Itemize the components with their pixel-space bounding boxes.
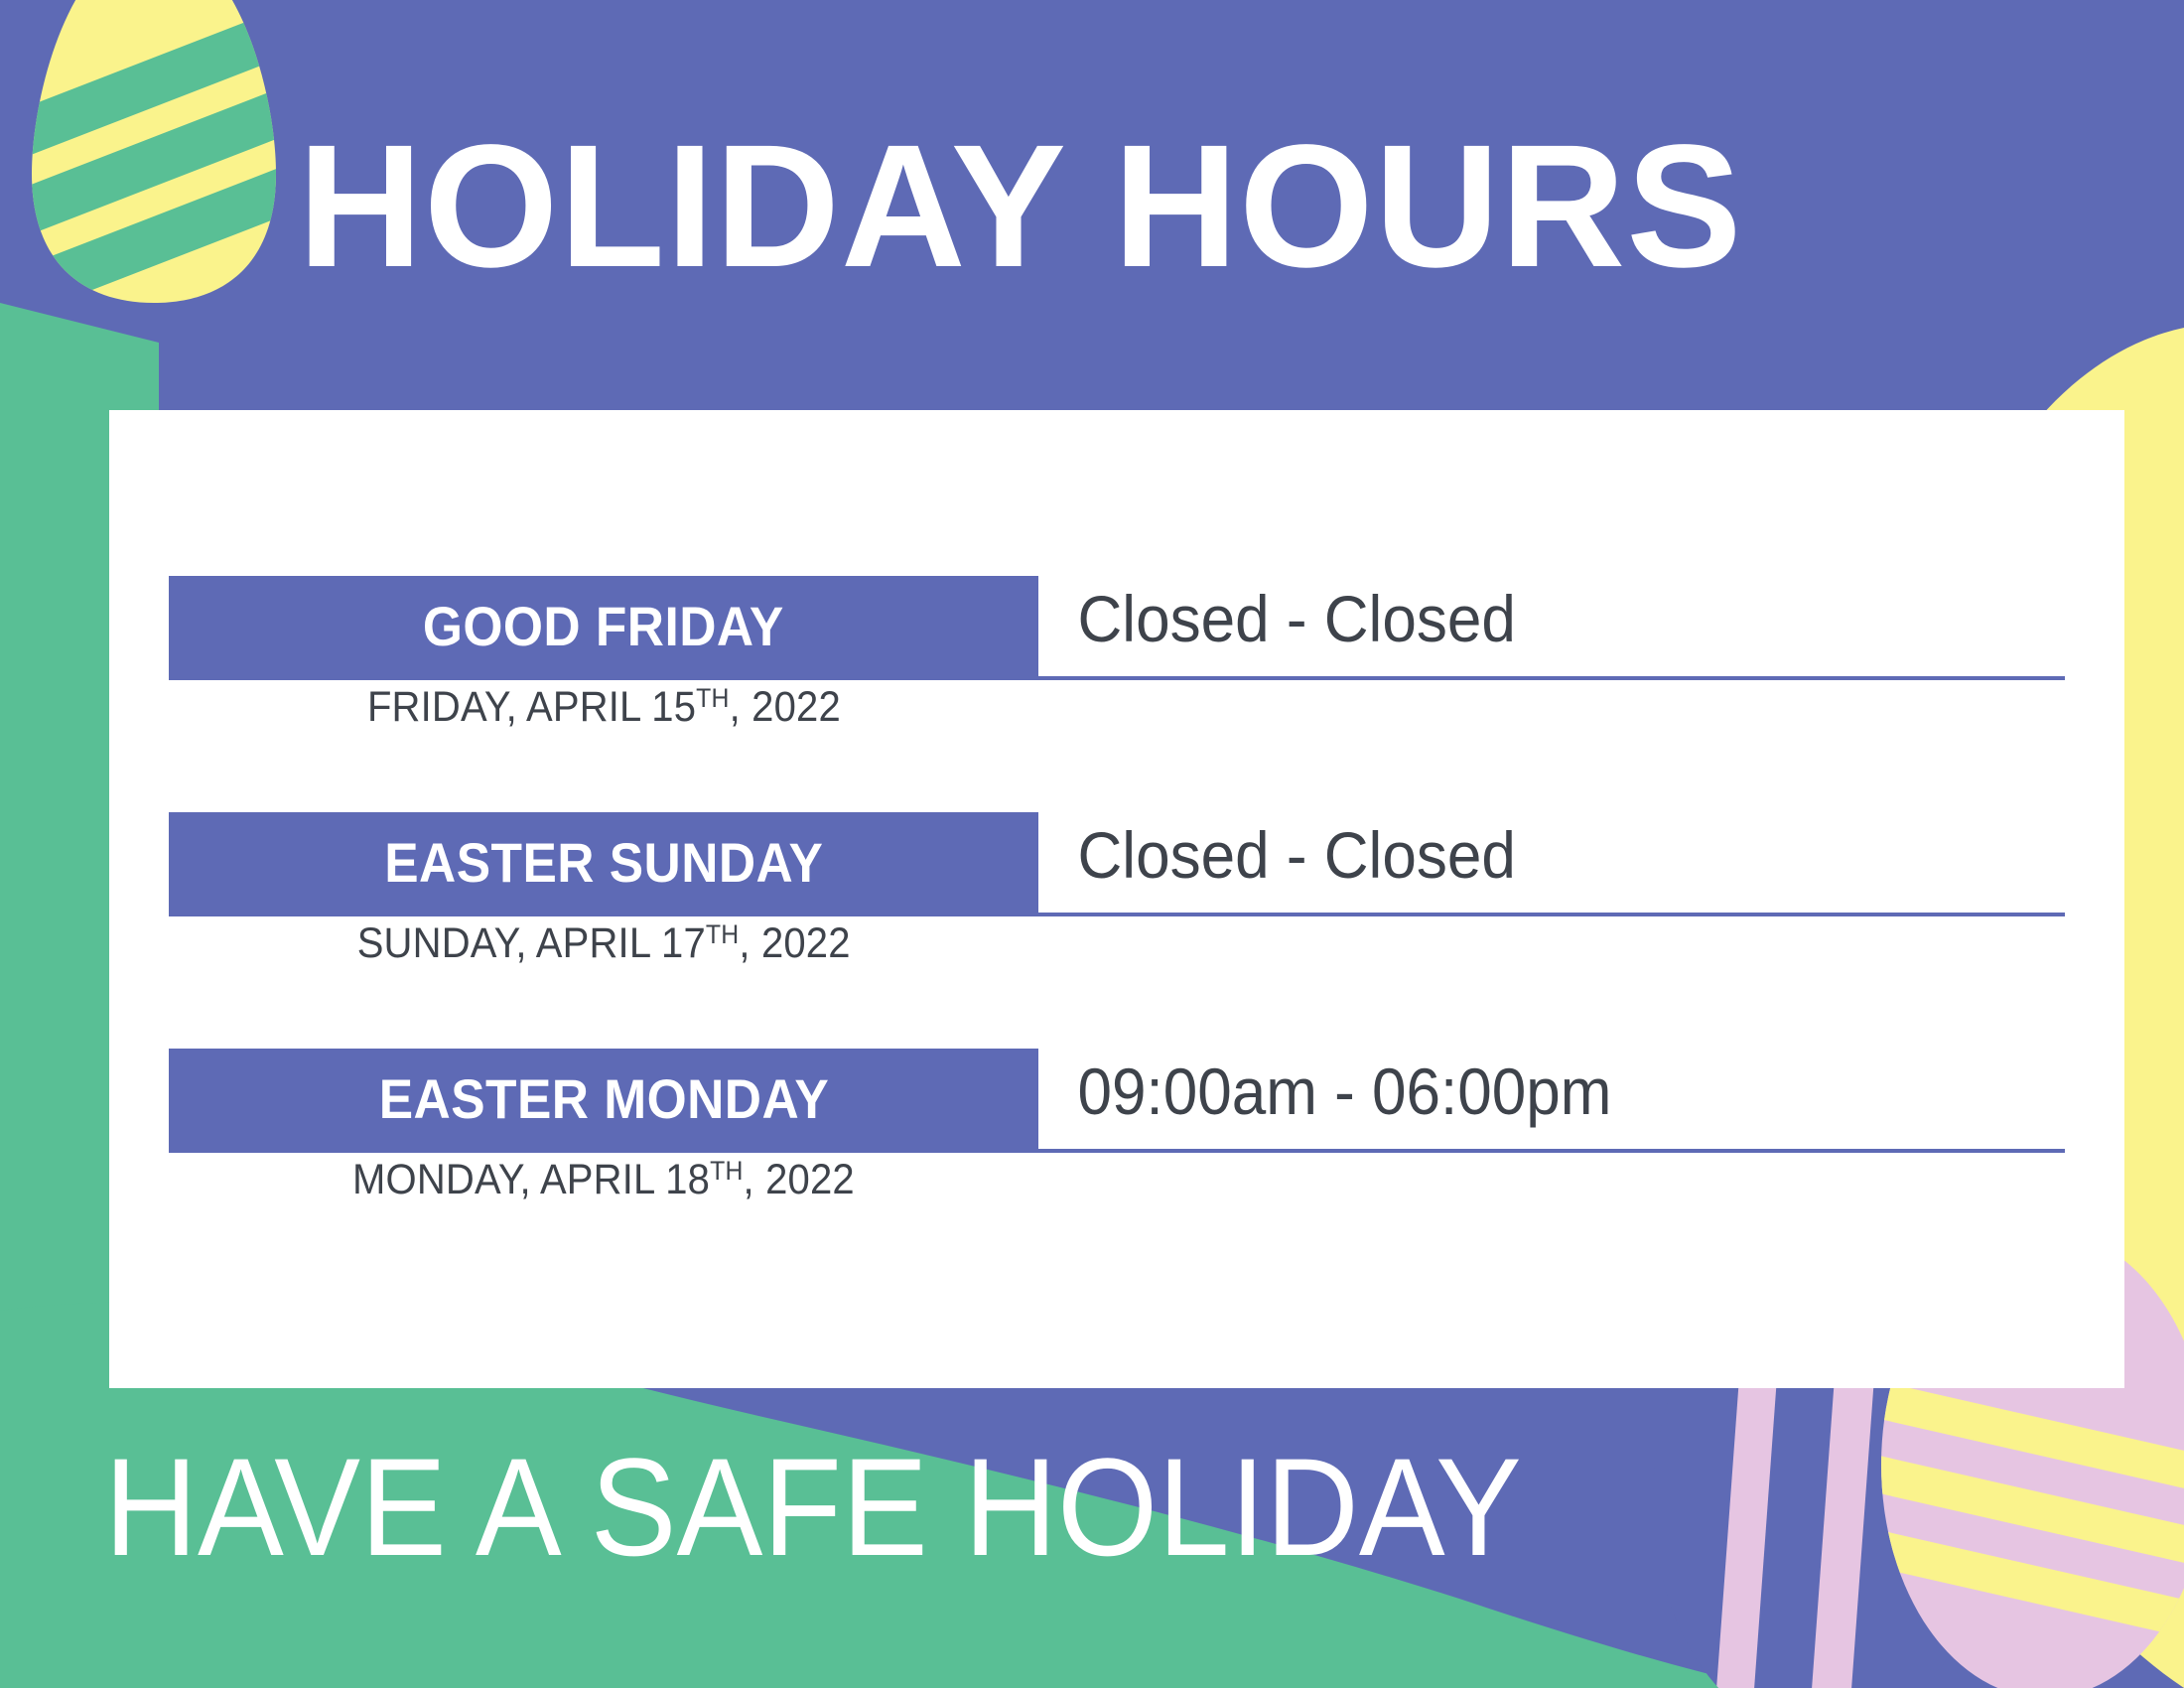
date-suffix: , 2022: [729, 683, 840, 731]
schedule-row: GOOD FRIDAY Closed - Closed FRIDAY, APRI…: [169, 576, 2065, 812]
page-title: HOLIDAY HOURS: [298, 119, 1969, 294]
schedule-row-top: EASTER SUNDAY Closed - Closed: [169, 812, 2065, 916]
schedule-row-top: EASTER MONDAY 09:00am - 06:00pm: [169, 1049, 2065, 1153]
holiday-name: EASTER MONDAY: [378, 1066, 829, 1131]
holiday-hours-cell: 09:00am - 06:00pm: [1038, 1049, 2065, 1153]
holiday-date-line: FRIDAY, APRIL 15TH, 2022: [169, 683, 1038, 732]
date-prefix: SUNDAY, APRIL 17: [357, 919, 706, 967]
holiday-hours: Closed - Closed: [1038, 817, 1516, 893]
holiday-hours-poster: HOLIDAY HOURS GOOD FRIDAY Closed - Close…: [0, 0, 2184, 1688]
holiday-date: FRIDAY, APRIL 15TH, 2022: [367, 683, 841, 732]
date-suffix: , 2022: [744, 1156, 855, 1203]
holiday-hours-cell: Closed - Closed: [1038, 812, 2065, 916]
holiday-hours-cell: Closed - Closed: [1038, 576, 2065, 680]
holiday-name-bar: EASTER MONDAY: [169, 1049, 1038, 1153]
holiday-date-line: SUNDAY, APRIL 17TH, 2022: [169, 919, 1038, 968]
date-prefix: MONDAY, APRIL 18: [352, 1156, 710, 1203]
schedule-row: EASTER SUNDAY Closed - Closed SUNDAY, AP…: [169, 812, 2065, 1049]
date-prefix: FRIDAY, APRIL 15: [367, 683, 696, 731]
footer-message: HAVE A SAFE HOLIDAY: [104, 1438, 1522, 1577]
holiday-name-bar: GOOD FRIDAY: [169, 576, 1038, 680]
holiday-date: MONDAY, APRIL 18TH, 2022: [352, 1156, 855, 1204]
date-suffix: , 2022: [739, 919, 850, 967]
holiday-date-line: MONDAY, APRIL 18TH, 2022: [169, 1156, 1038, 1204]
schedule-card: GOOD FRIDAY Closed - Closed FRIDAY, APRI…: [109, 410, 2124, 1388]
holiday-name: EASTER SUNDAY: [384, 830, 823, 895]
holiday-hours: Closed - Closed: [1038, 581, 1516, 656]
holiday-date: SUNDAY, APRIL 17TH, 2022: [357, 919, 851, 968]
holiday-name-bar: EASTER SUNDAY: [169, 812, 1038, 916]
date-ordinal: TH: [710, 1156, 743, 1186]
schedule-row-top: GOOD FRIDAY Closed - Closed: [169, 576, 2065, 680]
holiday-name: GOOD FRIDAY: [423, 594, 784, 658]
schedule-rows: GOOD FRIDAY Closed - Closed FRIDAY, APRI…: [169, 576, 2065, 1285]
date-ordinal: TH: [696, 683, 729, 713]
date-ordinal: TH: [706, 919, 739, 949]
schedule-row: EASTER MONDAY 09:00am - 06:00pm MONDAY, …: [169, 1049, 2065, 1285]
holiday-hours: 09:00am - 06:00pm: [1038, 1054, 1611, 1129]
